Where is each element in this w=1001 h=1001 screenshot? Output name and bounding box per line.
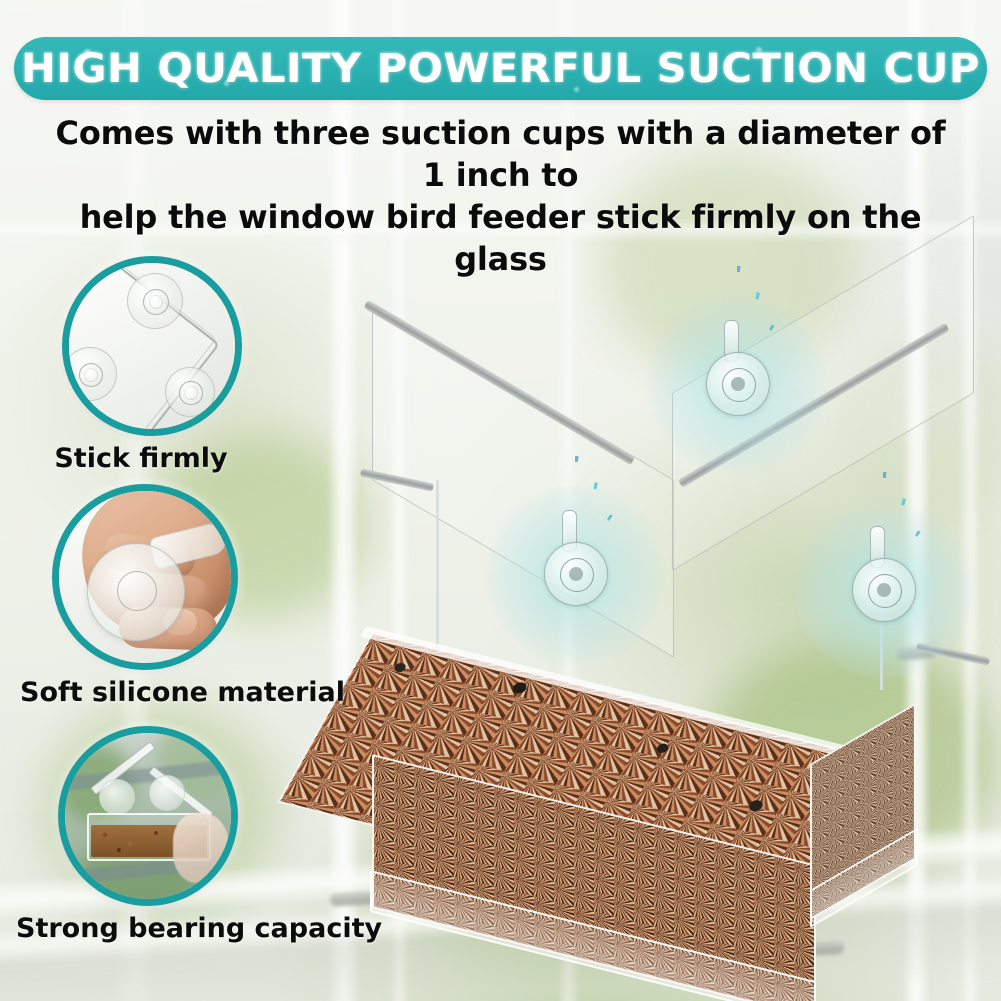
feature-strong-bearing: Strong bearing capacity bbox=[58, 726, 382, 944]
hand-icon bbox=[173, 813, 229, 883]
suction-cup-icon bbox=[63, 347, 117, 401]
feeder-support-post bbox=[436, 480, 439, 655]
feature-soft-silicone: Soft silicone material bbox=[52, 484, 345, 708]
subtitle-block: Comes with three suction cups with a dia… bbox=[50, 112, 951, 280]
feature-stick-firmly: Stick firmly bbox=[62, 256, 242, 474]
suction-cup-icon bbox=[544, 542, 608, 606]
feature-image-ring bbox=[62, 256, 242, 436]
suction-cup-icon bbox=[149, 775, 185, 811]
suction-cup-icon bbox=[706, 352, 770, 416]
feature-label: Strong bearing capacity bbox=[16, 913, 382, 944]
feeder-seed-tray bbox=[372, 632, 912, 904]
bird-feeder-product bbox=[360, 280, 980, 940]
headline-banner: HIGH QUALITY POWERFUL SUCTION CUP bbox=[14, 37, 987, 100]
suction-cup-icon bbox=[87, 543, 185, 641]
tray-side-seeds bbox=[810, 703, 916, 920]
suction-cup-icon bbox=[165, 367, 215, 417]
product-marketing-image: HIGH QUALITY POWERFUL SUCTION CUP Comes … bbox=[0, 0, 1001, 1001]
subtitle-line-1: Comes with three suction cups with a dia… bbox=[50, 112, 951, 196]
feature-image-ring bbox=[52, 484, 238, 670]
feature-label: Soft silicone material bbox=[20, 677, 345, 708]
suction-cup-icon bbox=[99, 779, 135, 815]
headline-text: HIGH QUALITY POWERFUL SUCTION CUP bbox=[14, 37, 987, 100]
suction-cup-icon bbox=[127, 273, 183, 329]
feature-label: Stick firmly bbox=[40, 443, 242, 474]
feature-image-ring bbox=[58, 726, 238, 906]
suction-cup-icon bbox=[852, 558, 916, 622]
